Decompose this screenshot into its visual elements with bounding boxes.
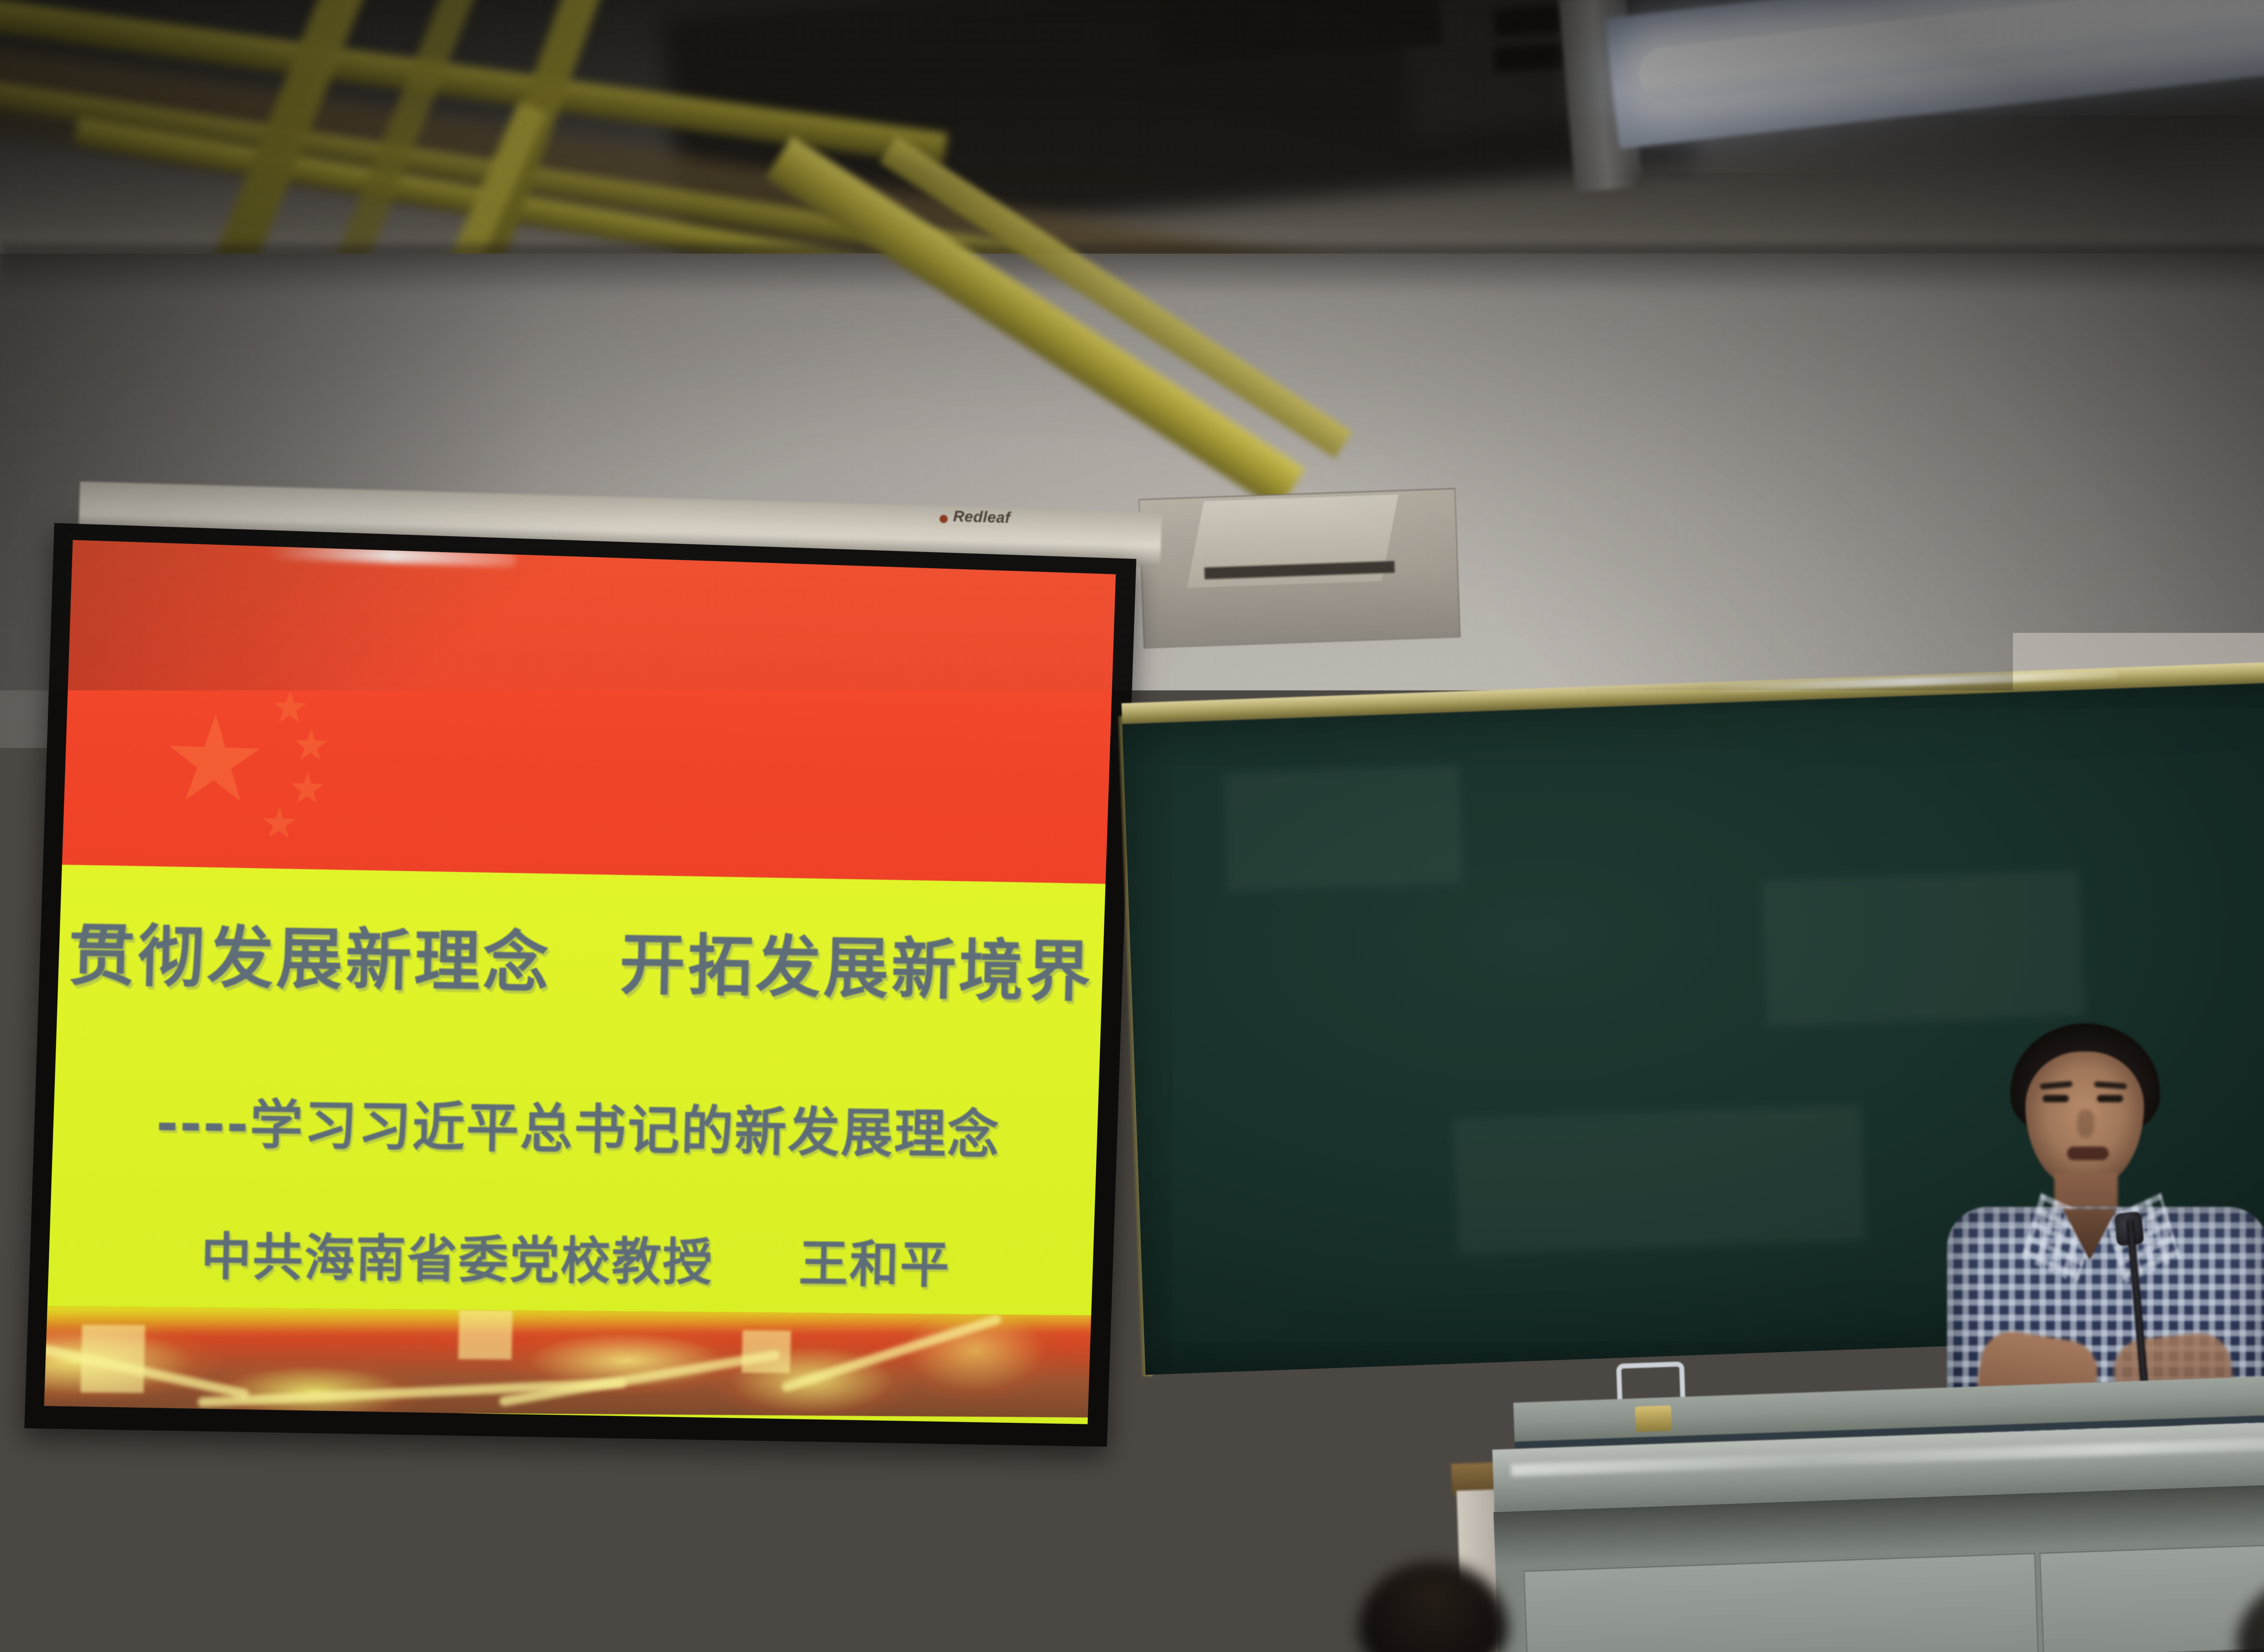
brass-latch-left[interactable]: [1635, 1405, 1672, 1432]
projection-screen-brand-label: Redleaf: [953, 508, 1010, 527]
podium-door-right[interactable]: [2039, 1537, 2264, 1652]
ceiling-wall-seam: [0, 245, 2264, 294]
chalk-smudge-1: [1223, 765, 1463, 891]
lecturer-eye-left: [2043, 1095, 2069, 1102]
slide-text-block: 贯彻发展新理念 开拓发展新境界 ----学习习近平总书记的新发展理念 中共海南省…: [48, 544, 1112, 1420]
lecturer-eye-right: [2097, 1095, 2123, 1102]
slide-title: 贯彻发展新理念 开拓发展新境界: [58, 920, 1103, 1007]
lecturer-mouth: [2067, 1147, 2109, 1160]
lecture-hall-scene: Redleaf: [0, 0, 2264, 1652]
slide-author-name: 王和平: [798, 1235, 951, 1295]
chalk-smudge-2: [1762, 870, 2084, 1027]
projection-screen-surface: 贯彻发展新理念 开拓发展新境界 ----学习习近平总书记的新发展理念 中共海南省…: [44, 540, 1116, 1424]
lecturer-nose: [2077, 1109, 2094, 1138]
metal-lectern-cabinet[interactable]: [1481, 1342, 2264, 1652]
chalk-smudge-3: [1453, 1105, 1866, 1255]
projection-screen[interactable]: Redleaf: [54, 491, 1168, 1460]
podium-door-left[interactable]: [1524, 1553, 2039, 1652]
slide-subtitle: ----学习习近平总书记的新发展理念: [54, 1079, 1099, 1170]
slide-author-spacer: [732, 1280, 780, 1281]
slide-author-affiliation: 中共海南省委党校教授: [200, 1228, 714, 1292]
slide-author-line: 中共海南省委党校教授 王和平: [51, 1214, 1096, 1299]
projection-screen-frame: 贯彻发展新理念 开拓发展新境界 ----学习习近平总书记的新发展理念 中共海南省…: [24, 523, 1137, 1447]
